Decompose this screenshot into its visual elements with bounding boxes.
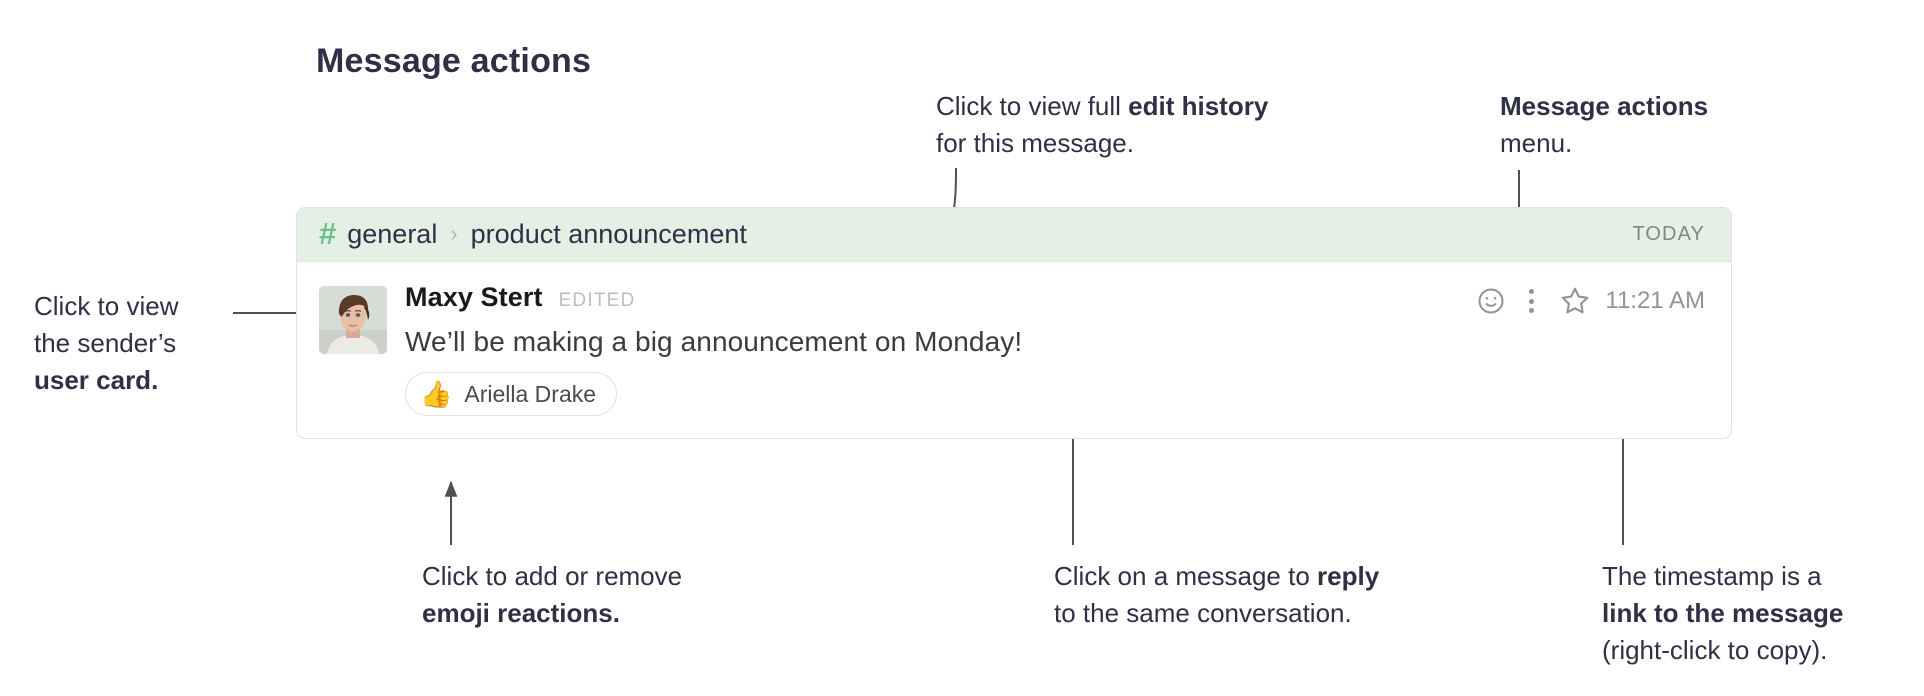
message-timestamp-link[interactable]: 11:21 AM bbox=[1605, 287, 1705, 315]
annotation-line: user card. bbox=[34, 362, 178, 399]
annotation-line: menu. bbox=[1500, 125, 1708, 162]
page-title: Message actions bbox=[316, 42, 591, 81]
annotation-line: Message actions bbox=[1500, 88, 1708, 125]
breadcrumb-channel[interactable]: general bbox=[347, 219, 437, 250]
more-menu-icon[interactable] bbox=[1513, 287, 1549, 315]
reaction-pill[interactable]: 👍 Ariella Drake bbox=[405, 372, 617, 416]
reaction-user-label: Ariella Drake bbox=[464, 381, 596, 408]
emoji-add-icon[interactable] bbox=[1469, 286, 1513, 316]
annotation-reply: Click on a message to reply to the same … bbox=[1054, 558, 1379, 632]
annotation-line: Click on a message to reply bbox=[1054, 558, 1379, 595]
annotation-emoji-reactions: Click to add or remove emoji reactions. bbox=[422, 558, 682, 632]
annotation-line: the sender’s bbox=[34, 325, 178, 362]
message-row[interactable]: Maxy Stert EDITED We’ll be making a big … bbox=[297, 262, 1731, 438]
annotation-line: for this message. bbox=[936, 125, 1268, 162]
message-body-text[interactable]: We’ll be making a big announcement on Mo… bbox=[405, 326, 1705, 358]
sender-name[interactable]: Maxy Stert bbox=[405, 282, 543, 313]
annotation-edit-history: Click to view full edit history for this… bbox=[936, 88, 1268, 162]
date-label: TODAY bbox=[1632, 223, 1705, 246]
annotation-line: to the same conversation. bbox=[1054, 595, 1379, 632]
hash-icon: # bbox=[319, 218, 336, 249]
star-icon[interactable] bbox=[1549, 285, 1601, 317]
annotation-line: Click to view full edit history bbox=[936, 88, 1268, 125]
annotation-line: link to the message bbox=[1602, 595, 1843, 632]
channel-breadcrumb-header: # general › product announcement TODAY bbox=[297, 208, 1731, 262]
message-actions-toolbar: 11:21 AM bbox=[1469, 284, 1705, 318]
thumbs-up-icon: 👍 bbox=[420, 381, 452, 407]
annotation-actions-menu: Message actions menu. bbox=[1500, 88, 1708, 162]
annotation-timestamp: The timestamp is a link to the message (… bbox=[1602, 558, 1843, 669]
annotation-user-card: Click to view the sender’s user card. bbox=[34, 288, 178, 399]
annotation-line: Click to view bbox=[34, 288, 178, 325]
avatar[interactable] bbox=[319, 286, 387, 354]
annotation-line: Click to add or remove bbox=[422, 558, 682, 595]
message-card: # general › product announcement TODAY bbox=[296, 207, 1732, 439]
breadcrumb-topic[interactable]: product announcement bbox=[471, 219, 747, 250]
edited-badge[interactable]: EDITED bbox=[559, 290, 636, 312]
reaction-row: 👍 Ariella Drake bbox=[405, 372, 1705, 416]
annotation-line: (right-click to copy). bbox=[1602, 632, 1843, 669]
annotation-line: emoji reactions. bbox=[422, 595, 682, 632]
chevron-right-icon: › bbox=[450, 221, 457, 247]
annotation-line: The timestamp is a bbox=[1602, 558, 1843, 595]
annotated-diagram: Message actions Click to view the sender… bbox=[0, 0, 1924, 696]
